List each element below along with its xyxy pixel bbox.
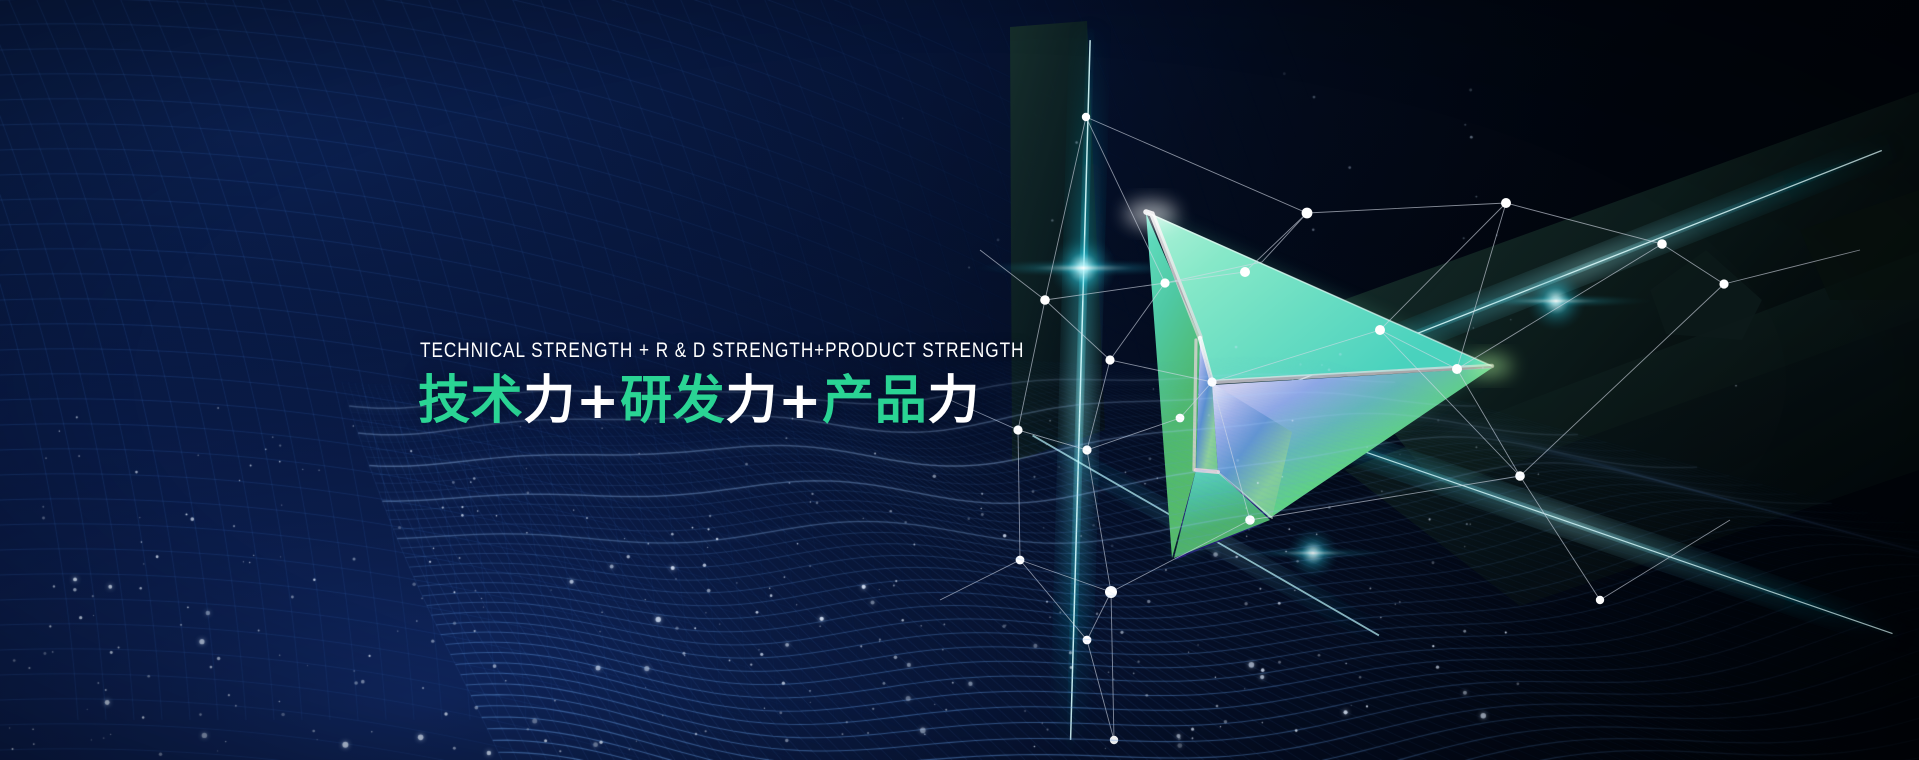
- hero-banner: TECHNICAL STRENGTH + R & D STRENGTH+PROD…: [0, 0, 1919, 760]
- vignette-layer: [0, 0, 1919, 760]
